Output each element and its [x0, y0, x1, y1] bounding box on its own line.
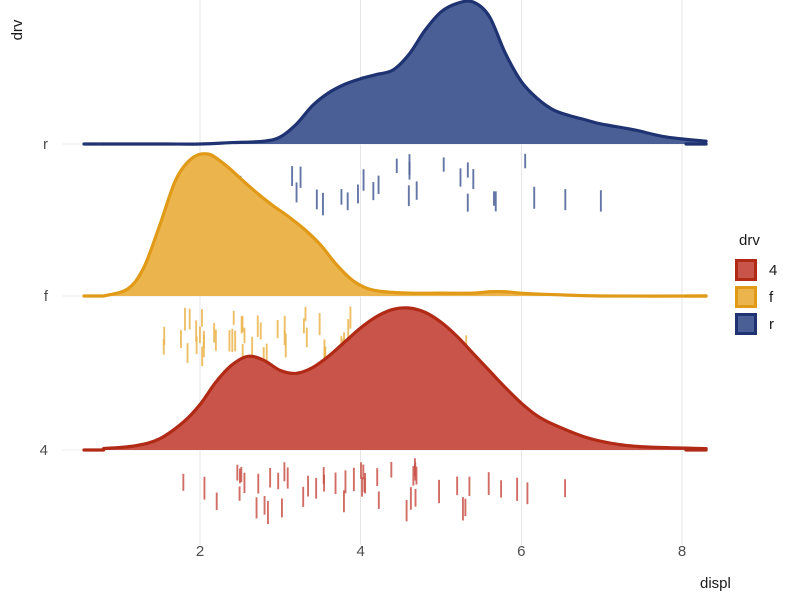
- x-tick-label-6: 6: [517, 543, 525, 560]
- x-tick-label-8: 8: [678, 543, 686, 560]
- legend-label-r: r: [769, 316, 774, 333]
- legend-swatch-4[interactable]: [737, 261, 756, 280]
- legend-items: 4fr: [734, 258, 777, 336]
- ridgeline-plot: 2468 rf4 displ drv drv 4fr: [0, 0, 800, 602]
- legend-swatch-f[interactable]: [737, 288, 756, 307]
- legend-label-4: 4: [769, 262, 777, 279]
- x-axis-title: displ: [700, 575, 731, 592]
- plot-canvas: 2468 rf4 displ drv drv 4fr: [0, 0, 800, 602]
- y-axis-title: drv: [9, 19, 26, 40]
- legend-swatch-r[interactable]: [737, 315, 756, 334]
- x-tick-label-2: 2: [196, 543, 204, 560]
- y-tick-label-r: r: [43, 136, 48, 153]
- y-tick-label-4: 4: [40, 442, 48, 459]
- x-tick-label-4: 4: [356, 543, 364, 560]
- legend-title: drv: [739, 232, 760, 249]
